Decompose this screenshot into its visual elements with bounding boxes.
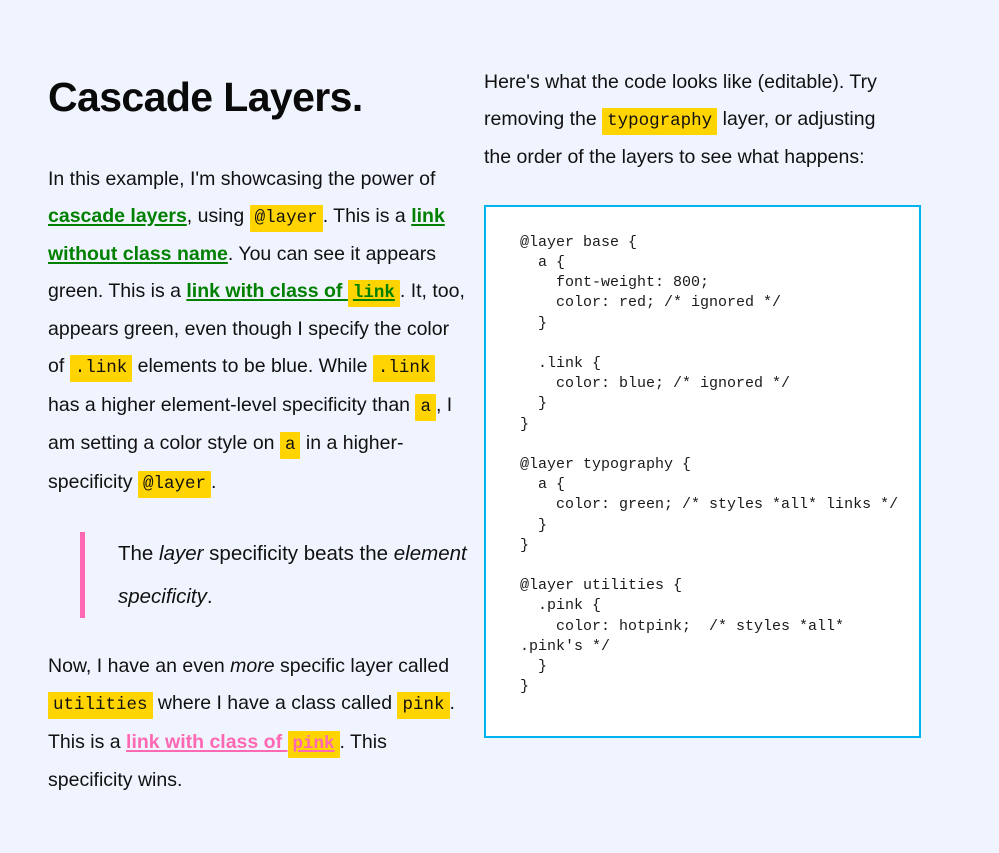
quote-text-2: specificity beats the bbox=[203, 542, 393, 565]
link-cascade-layers[interactable]: cascade layers bbox=[48, 205, 187, 227]
right-column: Here's what the code looks like (editabl… bbox=[467, 0, 954, 738]
quote-text-1: The bbox=[118, 542, 159, 565]
para2-text-3: where I have a class called bbox=[153, 692, 398, 714]
quote-text-3: . bbox=[207, 585, 213, 608]
code-chip-dotlink-2: .link bbox=[373, 355, 436, 382]
code-chip-atlayer: @layer bbox=[250, 205, 323, 232]
quote-emphasis-layer: layer bbox=[159, 542, 203, 565]
code-chip-typography: typography bbox=[602, 108, 717, 135]
code-chip-pink: pink bbox=[397, 692, 449, 719]
paragraph-text-6: elements to be blue. While bbox=[132, 355, 373, 377]
code-chip-a-2: a bbox=[280, 432, 301, 459]
paragraph-text-7: has a higher element-level specificity t… bbox=[48, 394, 415, 416]
intro-paragraph: In this example, I'm showcasing the powe… bbox=[48, 161, 467, 502]
code-chip-link: link bbox=[348, 280, 400, 307]
code-chip-atlayer-2: @layer bbox=[138, 471, 211, 498]
para2-emphasis-more: more bbox=[230, 655, 274, 677]
paragraph-text-1: In this example, I'm showcasing the powe… bbox=[48, 168, 435, 190]
code-chip-pink-2: pink bbox=[288, 731, 340, 758]
blockquote-layer-specificity: The layer specificity beats the element … bbox=[80, 532, 467, 618]
code-editor-panel[interactable]: @layer base { a { font-weight: 800; colo… bbox=[484, 205, 921, 738]
blockquote-text: The layer specificity beats the element … bbox=[118, 532, 467, 618]
link-with-class-of-pink[interactable]: link with class of pink bbox=[126, 731, 339, 753]
para2-text-2: specific layer called bbox=[275, 655, 450, 677]
paragraph-text-10: . bbox=[211, 471, 216, 493]
link-label: link with class of bbox=[126, 731, 287, 753]
link-label: link with class of bbox=[186, 280, 347, 302]
code-chip-utilities: utilities bbox=[48, 692, 153, 719]
para2-text-1: Now, I have an even bbox=[48, 655, 230, 677]
code-chip-dotlink-1: .link bbox=[70, 355, 133, 382]
paragraph-text-3: . This is a bbox=[323, 205, 412, 227]
code-intro-paragraph: Here's what the code looks like (editabl… bbox=[484, 64, 904, 176]
code-chip-a-1: a bbox=[415, 394, 436, 421]
page-title: Cascade Layers. bbox=[48, 76, 467, 119]
utilities-paragraph: Now, I have an even more specific layer … bbox=[48, 648, 467, 798]
link-with-class-of-link[interactable]: link with class of link bbox=[186, 280, 399, 302]
code-editor-content[interactable]: @layer base { a { font-weight: 800; colo… bbox=[520, 233, 903, 698]
paragraph-text-2: , using bbox=[187, 205, 250, 227]
page-root: Cascade Layers. In this example, I'm sho… bbox=[0, 0, 999, 853]
left-column: Cascade Layers. In this example, I'm sho… bbox=[0, 0, 467, 799]
